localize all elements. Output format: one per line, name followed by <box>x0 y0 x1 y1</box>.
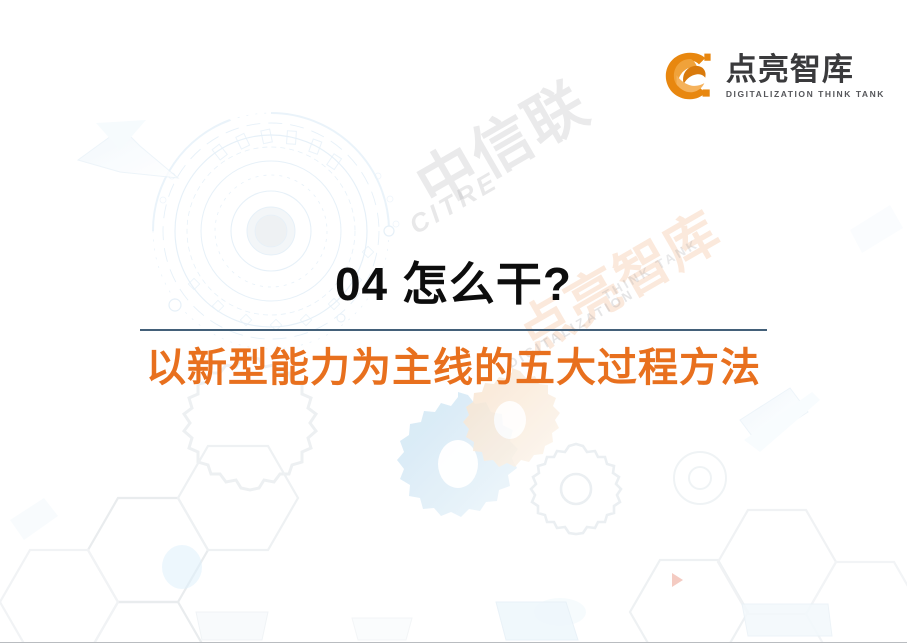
page-title: 04 怎么干? <box>0 258 907 311</box>
logo-name-cn: 点亮智库 <box>726 54 885 87</box>
logo-swirl-icon <box>663 50 717 102</box>
title-block: 04 怎么干? 以新型能力为主线的五大过程方法 <box>0 258 907 391</box>
brand-logo: 点亮智库 DIGITALIZATION THINK TANK <box>663 50 885 102</box>
logo-wordmark: 点亮智库 DIGITALIZATION THINK TANK <box>726 54 885 98</box>
page-subtitle: 以新型能力为主线的五大过程方法 <box>0 345 907 391</box>
hexagon-accent-dot <box>162 545 586 626</box>
slide-canvas: 中信联 CITRE 点亮智库 DIGITALIZATION THINK TANK… <box>0 0 907 643</box>
hexagon-grid <box>0 446 907 642</box>
title-divider <box>140 329 767 331</box>
play-triangle-icon <box>672 573 683 587</box>
watermark-citre-cn: 中信联 <box>398 57 603 225</box>
bottom-plates <box>196 602 832 640</box>
logo-tagline-en: DIGITALIZATION THINK TANK <box>726 90 885 99</box>
watermark-citre-en: CITRE <box>404 165 504 241</box>
